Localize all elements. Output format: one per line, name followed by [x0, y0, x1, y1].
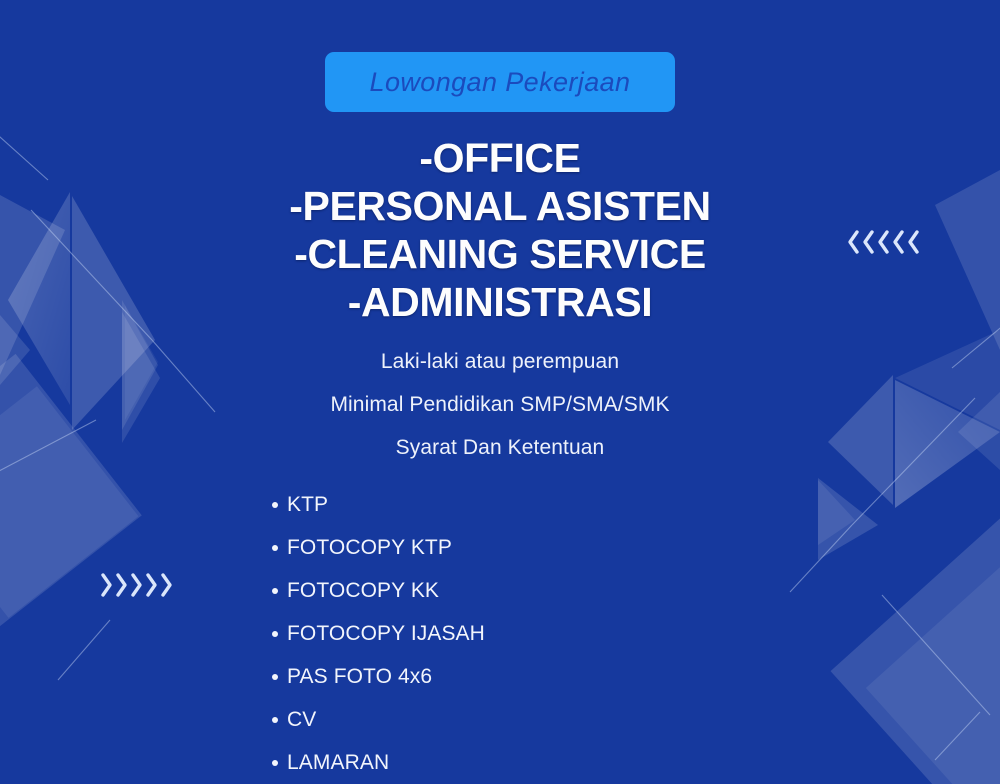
vacancy-badge: Lowongan Pekerjaan [325, 52, 675, 112]
chevron-left-icon [877, 229, 890, 255]
list-item: FOTOCOPY KTP [272, 526, 1000, 569]
chevron-left-icon [847, 229, 860, 255]
requirements-list: KTP FOTOCOPY KTP FOTOCOPY KK FOTOCOPY IJ… [0, 483, 1000, 784]
requirement-label: FOTOCOPY KK [287, 579, 439, 603]
criteria-education: Minimal Pendidikan SMP/SMA/SMK [0, 383, 1000, 426]
job-position-office: -OFFICE [0, 134, 1000, 182]
bullet-icon [272, 674, 278, 680]
bullet-icon [272, 717, 278, 723]
right-chevron-cluster [847, 229, 922, 255]
list-item: FOTOCOPY KK [272, 569, 1000, 612]
chevron-right-icon [100, 572, 113, 598]
list-item: PAS FOTO 4x6 [272, 655, 1000, 698]
chevron-left-icon [907, 229, 920, 255]
general-criteria: Laki-laki atau perempuan Minimal Pendidi… [0, 340, 1000, 469]
bullet-icon [272, 588, 278, 594]
job-vacancy-poster: Lowongan Pekerjaan -OFFICE -PERSONAL ASI… [0, 0, 1000, 784]
requirement-label: FOTOCOPY IJASAH [287, 622, 485, 646]
left-chevron-cluster [100, 572, 175, 598]
criteria-gender: Laki-laki atau perempuan [0, 340, 1000, 383]
bullet-icon [272, 631, 278, 637]
requirement-label: FOTOCOPY KTP [287, 536, 452, 560]
bullet-icon [272, 760, 278, 766]
requirement-label: LAMARAN [287, 751, 389, 775]
chevron-left-icon [892, 229, 905, 255]
vacancy-badge-label: Lowongan Pekerjaan [370, 67, 631, 98]
chevron-right-icon [115, 572, 128, 598]
bullet-icon [272, 502, 278, 508]
requirement-label: KTP [287, 493, 328, 517]
list-item: FOTOCOPY IJASAH [272, 612, 1000, 655]
chevron-right-icon [160, 572, 173, 598]
chevron-right-icon [145, 572, 158, 598]
requirement-label: PAS FOTO 4x6 [287, 665, 432, 689]
chevron-left-icon [862, 229, 875, 255]
chevron-right-icon [130, 572, 143, 598]
requirements-heading: Syarat Dan Ketentuan [0, 426, 1000, 469]
list-item: KTP [272, 483, 1000, 526]
job-position-personal-asisten: -PERSONAL ASISTEN [0, 182, 1000, 230]
poster-content: Lowongan Pekerjaan -OFFICE -PERSONAL ASI… [0, 0, 1000, 784]
list-item: LAMARAN [272, 741, 1000, 784]
requirement-label: CV [287, 708, 316, 732]
list-item: CV [272, 698, 1000, 741]
bullet-icon [272, 545, 278, 551]
job-position-administrasi: -ADMINISTRASI [0, 278, 1000, 326]
